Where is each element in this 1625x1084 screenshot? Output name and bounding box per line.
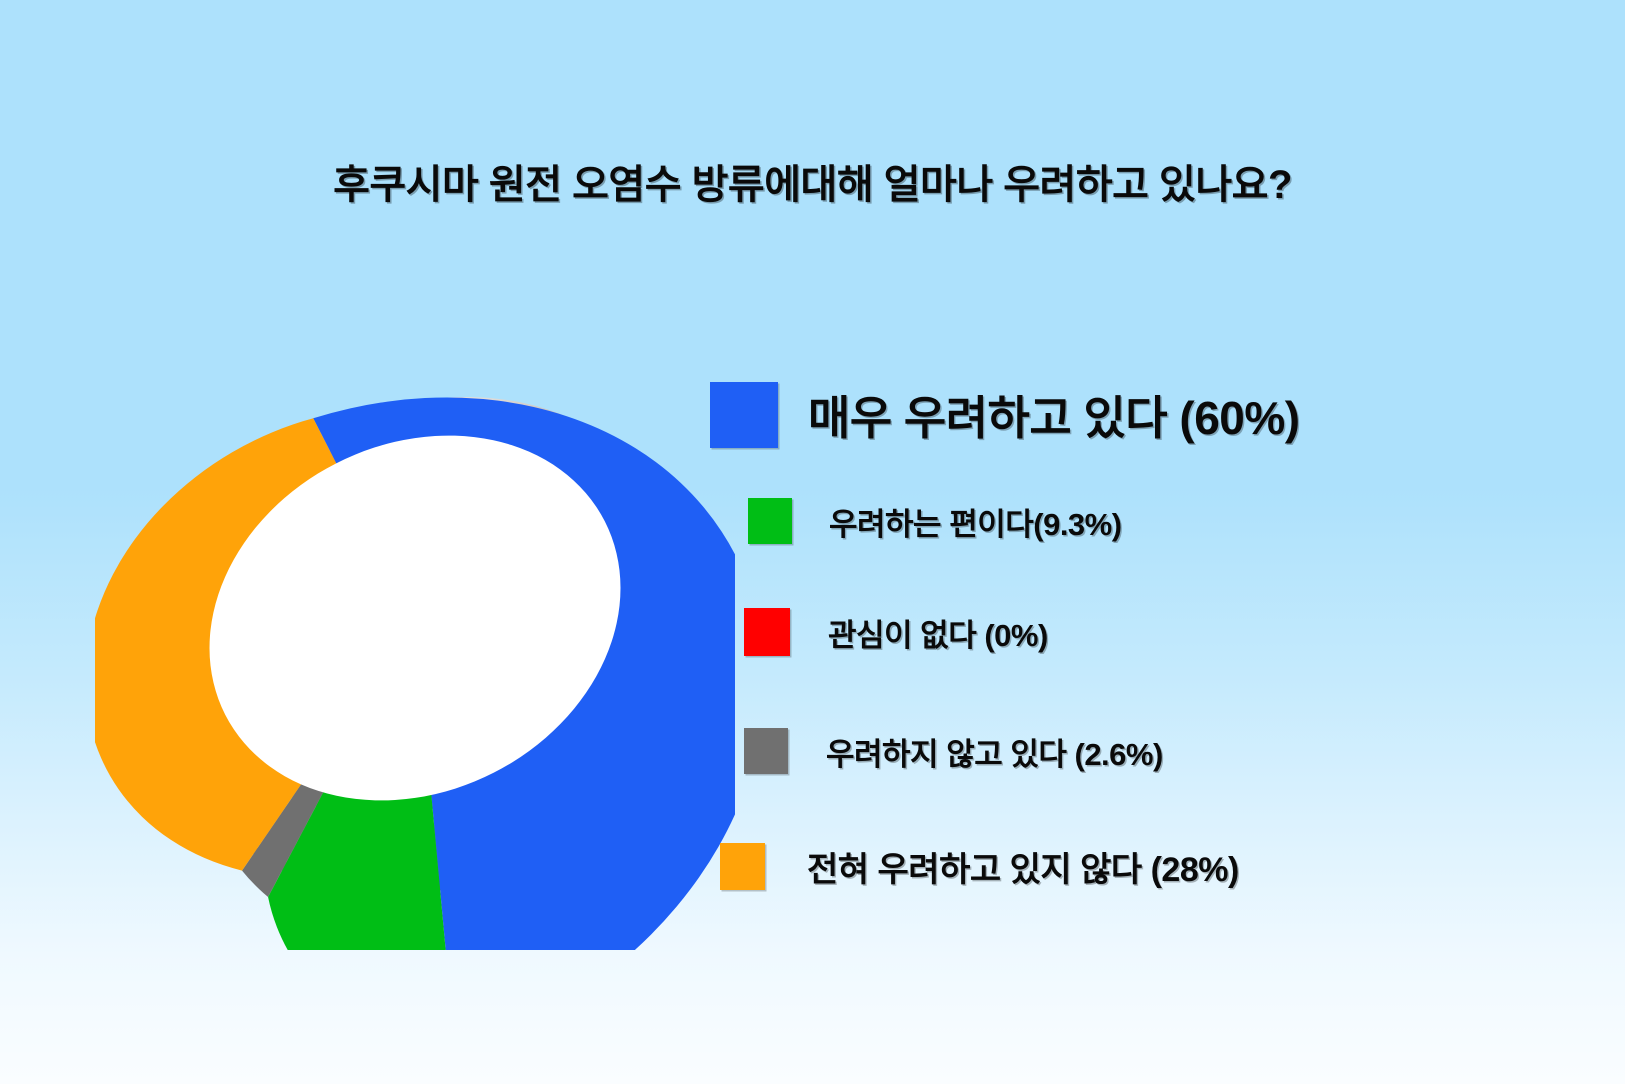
- legend-item-2[interactable]: 관심이 없다 (0%): [744, 608, 1048, 656]
- legend-item-1[interactable]: 우려하는 편이다(9.3%): [748, 498, 1122, 544]
- donut-chart-svg: [95, 300, 735, 950]
- legend-label-4: 전혀 우려하고 있지 않다 (28%): [807, 842, 1239, 891]
- legend-swatch-gray: [744, 728, 788, 774]
- legend-item-4[interactable]: 전혀 우려하고 있지 않다 (28%): [720, 842, 1239, 891]
- legend-label-0: 매우 우려하고 있다 (60%): [808, 382, 1300, 448]
- legend-item-3[interactable]: 우려하지 않고 있다 (2.6%): [744, 728, 1163, 774]
- chart-legend: 매우 우려하고 있다 (60%) 우려하는 편이다(9.3%) 관심이 없다 (…: [700, 380, 1580, 920]
- legend-label-2: 관심이 없다 (0%): [828, 610, 1048, 655]
- legend-swatch-orange: [720, 843, 765, 890]
- legend-item-0[interactable]: 매우 우려하고 있다 (60%): [710, 382, 1300, 448]
- legend-label-1: 우려하는 편이다(9.3%): [829, 499, 1122, 544]
- chart-title: 후쿠시마 원전 오염수 방류에대해 얼마나 우려하고 있나요?: [0, 152, 1625, 210]
- legend-swatch-green: [748, 498, 792, 544]
- legend-swatch-blue: [710, 382, 778, 448]
- donut-chart: [95, 300, 735, 950]
- legend-label-3: 우려하지 않고 있다 (2.6%): [826, 729, 1163, 774]
- legend-swatch-red: [744, 608, 790, 656]
- donut-top-face: [95, 300, 735, 950]
